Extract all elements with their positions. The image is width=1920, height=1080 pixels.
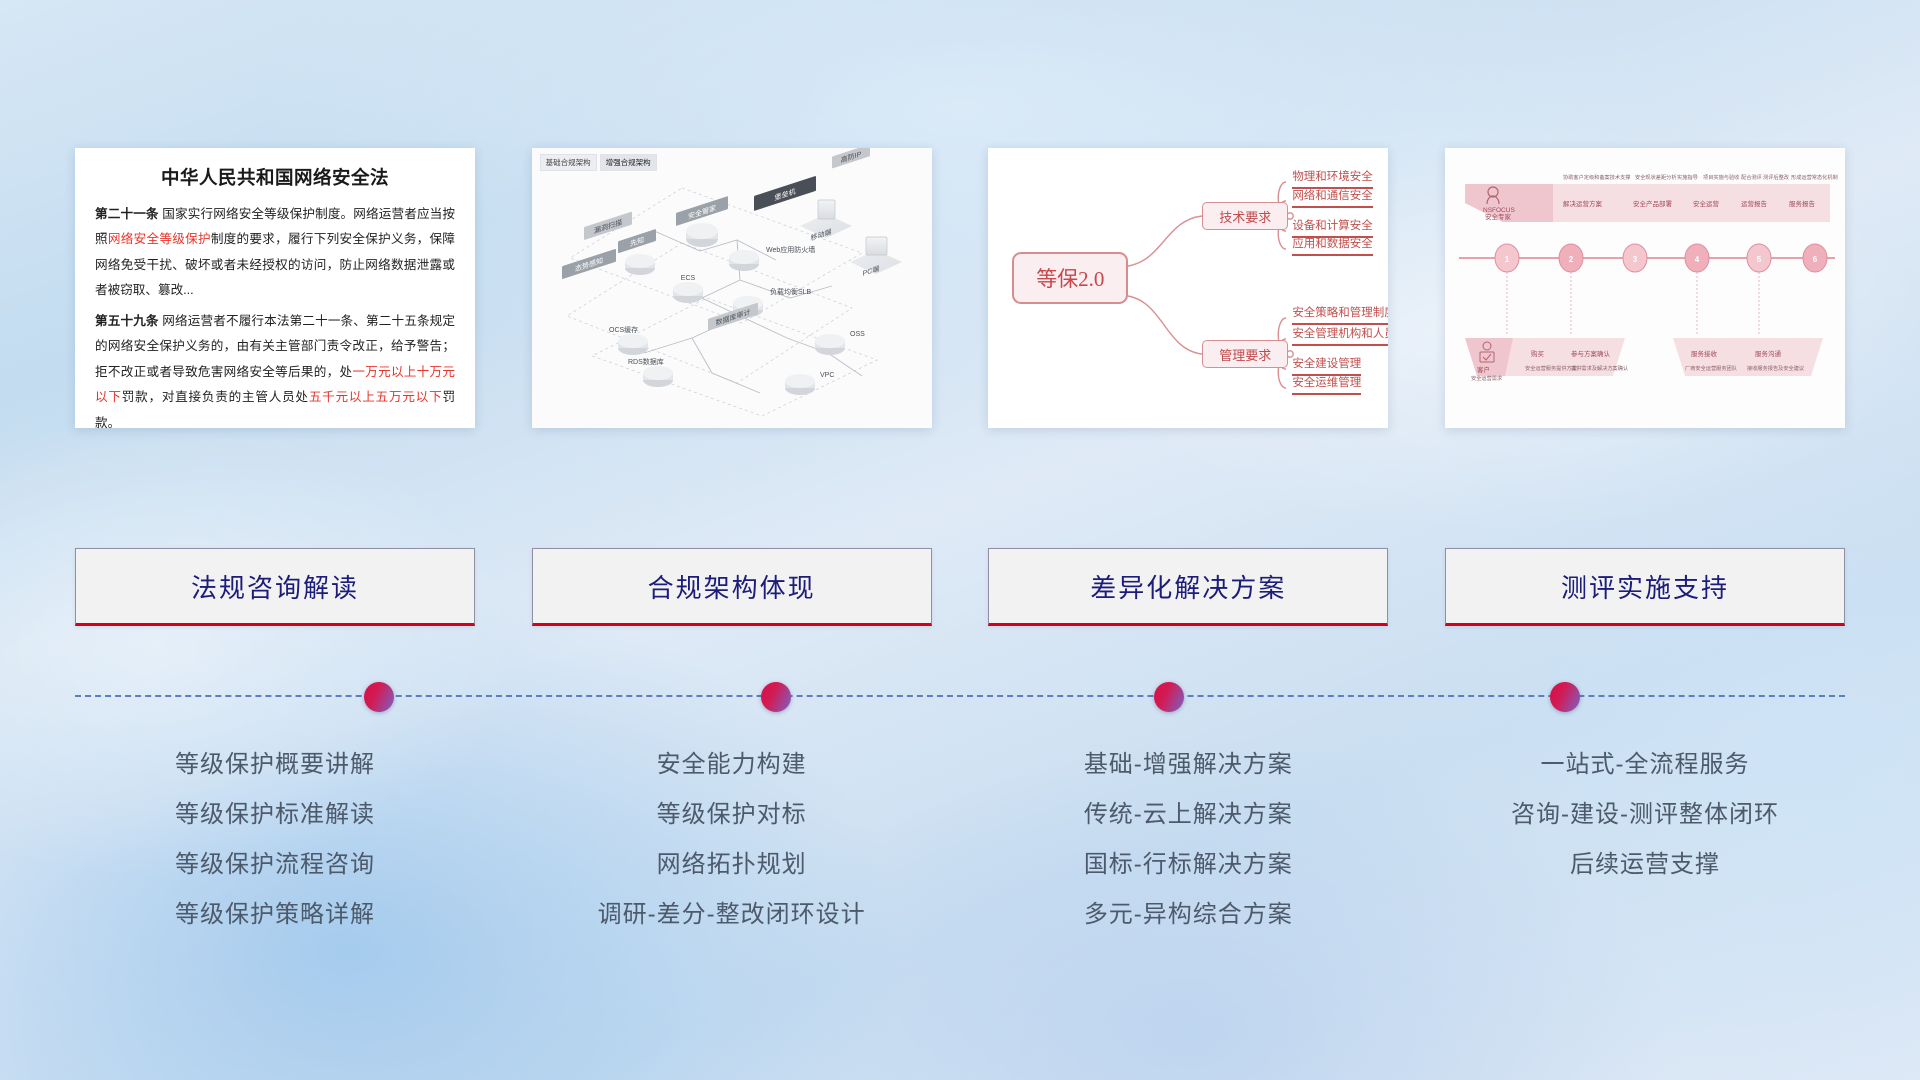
list-item[interactable]: 等级保护对标 (532, 790, 932, 840)
nsfocus-phase-1: 解决运营方案 (1563, 199, 1603, 208)
architecture-node-oss: OSS (850, 331, 865, 338)
nsfocus-step-2: 2 (1569, 255, 1574, 264)
nsfocus-top-label-4: 项目实施与验收 (1703, 173, 1739, 181)
mindmap-leaf-ops-mgmt: 安全运维管理 (1292, 376, 1361, 395)
architecture-node-ocs: OCS缓存 (609, 325, 638, 334)
thumbnail-architecture-diagram[interactable]: 基础合规架构 增强合规架构 (532, 148, 932, 428)
list-item[interactable]: 等级保护策略详解 (75, 890, 475, 940)
section-list-4: 一站式-全流程服务 咨询-建设-测评整体闭环 后续运营支撑 (1445, 740, 1845, 940)
timeline-dot-2[interactable] (761, 682, 791, 712)
nsfocus-client-label1: 客户 (1477, 365, 1490, 374)
list-item[interactable]: 后续运营支撑 (1445, 840, 1845, 890)
timeline-dashed-line (75, 695, 1845, 697)
section-headline-evaluation-support[interactable]: 测评实施支持 (1445, 548, 1845, 626)
section-headline-compliance-architecture[interactable]: 合规架构体现 (532, 548, 932, 626)
section-list-1: 等级保护概要讲解 等级保护标准解读 等级保护流程咨询 等级保护策略详解 (75, 740, 475, 940)
nsfocus-top-label-1: 协助客户定级和备案技术支撑 (1563, 173, 1630, 181)
nsfocus-phase-3: 安全运营 (1693, 199, 1720, 208)
law-article-59-text-b: 罚款，对直接负责的主管人员处 (122, 390, 309, 404)
nsfocus-brand-line2: 安全专家 (1485, 212, 1512, 221)
list-item[interactable]: 等级保护流程咨询 (75, 840, 475, 890)
architecture-node-ecs: ECS (680, 275, 695, 282)
list-item[interactable]: 基础-增强解决方案 (988, 740, 1388, 790)
nsfocus-client-label2: 安全运营需求 (1471, 374, 1503, 382)
law-article-59: 第五十九条 网络运营者不履行本法第二十一条、第二十五条规定的网络安全保护义务的，… (95, 309, 455, 428)
list-item[interactable]: 安全能力构建 (532, 740, 932, 790)
mindmap-branch-management[interactable]: 管理要求 (1202, 340, 1288, 368)
section-headline-differentiated-solution[interactable]: 差异化解决方案 (988, 548, 1388, 626)
nsfocus-phase-5: 服务报告 (1789, 199, 1816, 208)
law-article-59-label: 第五十九条 (95, 314, 159, 328)
nsfocus-canvas: NSFOCUS 安全专家 协助客户定级和备案技术支撑 安全现状差距分析 实施指导… (1445, 148, 1845, 428)
nsfocus-step-6: 6 (1813, 255, 1818, 264)
list-item[interactable]: 调研-差分-整改闭环设计 (532, 890, 932, 940)
list-item[interactable]: 传统-云上解决方案 (988, 790, 1388, 840)
nsfocus-bottom-right-1: 服务接收 (1691, 349, 1718, 358)
law-article-21: 第二十一条 国家实行网络安全等级保护制度。网络运营者应当按照网络安全等级保护制度… (95, 202, 455, 304)
architecture-node-rds: RDS数据库 (628, 357, 664, 366)
mindmap-root-node[interactable]: 等保2.0 (1012, 252, 1128, 304)
section-title-2: 合规架构体现 (648, 568, 816, 605)
mindmap-leaf-network-comm: 网络和通信安全 (1292, 189, 1373, 208)
nsfocus-bottom-left-2: 参与方案确认 (1571, 349, 1611, 358)
thumbnail-mindmap[interactable]: 等保2.0 技术要求 物理和环境安全 网络和通信安全 设备和计算安全 应用和数据… (988, 148, 1388, 428)
nsfocus-bottom-right-2: 服务沟通 (1755, 349, 1782, 358)
mindmap-leaf-construction-mgmt: 安全建设管理 (1292, 357, 1361, 376)
list-item[interactable]: 国标-行标解决方案 (988, 840, 1388, 890)
thumbnail-row: 中华人民共和国网络安全法 第二十一条 国家实行网络安全等级保护制度。网络运营者应… (0, 0, 1920, 428)
list-item[interactable]: 多元-异构综合方案 (988, 890, 1388, 940)
nsfocus-bottom-left-sub-1: 安全运营服务提供方案 (1525, 364, 1578, 372)
list-item[interactable]: 等级保护概要讲解 (75, 740, 475, 790)
nsfocus-phase-4: 运营报告 (1741, 199, 1768, 208)
nsfocus-top-label-6: 测评后整改 (1763, 173, 1790, 181)
list-item[interactable]: 等级保护标准解读 (75, 790, 475, 840)
section-list-2: 安全能力构建 等级保护对标 网络拓扑规划 调研-差分-整改闭环设计 (532, 740, 932, 940)
architecture-node-shujukushenji: 数据库审计 (715, 307, 750, 327)
timeline-dot-4[interactable] (1550, 682, 1580, 712)
architecture-node-vpc: VPC (820, 372, 834, 379)
law-article-21-highlight: 网络安全等级保护 (108, 232, 211, 246)
mindmap-leaf-policy-system: 安全策略和管理制度 (1292, 306, 1388, 325)
mindmap-leaf-device-compute: 设备和计算安全 (1292, 219, 1373, 238)
architecture-node-waf: Web应用防火墙 (766, 245, 815, 254)
architecture-svg: 堡垒机 安全管家 (532, 148, 932, 428)
list-item[interactable]: 网络拓扑规划 (532, 840, 932, 890)
timeline-dot-1[interactable] (364, 682, 394, 712)
nsfocus-step-4: 4 (1695, 255, 1700, 264)
nsfocus-step-3: 3 (1633, 255, 1638, 264)
nsfocus-svg: NSFOCUS 安全专家 协助客户定级和备案技术支撑 安全现状差距分析 实施指导… (1445, 148, 1845, 428)
mindmap-leaf-physical-env: 物理和环境安全 (1292, 170, 1373, 189)
thumbnail-nsfocus-timeline[interactable]: NSFOCUS 安全专家 协助客户定级和备案技术支撑 安全现状差距分析 实施指导… (1445, 148, 1845, 428)
nsfocus-bottom-left-1: 购买 (1531, 349, 1545, 358)
mindmap-branch-technical[interactable]: 技术要求 (1202, 202, 1288, 230)
nsfocus-brand-line1: NSFOCUS (1483, 207, 1515, 214)
nsfocus-step-1: 1 (1505, 255, 1510, 264)
list-item[interactable]: 咨询-建设-测评整体闭环 (1445, 790, 1845, 840)
mindmap-leaf-app-data: 应用和数据安全 (1292, 237, 1373, 256)
section-list-3: 基础-增强解决方案 传统-云上解决方案 国标-行标解决方案 多元-异构综合方案 (988, 740, 1388, 940)
section-list-row: 等级保护概要讲解 等级保护标准解读 等级保护流程咨询 等级保护策略详解 安全能力… (0, 740, 1920, 940)
nsfocus-top-label-3: 实施指导 (1677, 173, 1698, 181)
architecture-node-slb: 负载均衡SLB (770, 287, 812, 296)
nsfocus-bottom-left-sub-2: 提供需求及解决方案确认 (1571, 364, 1629, 372)
law-article-59-highlight-b: 五千元以上五万元以下 (309, 390, 443, 404)
nsfocus-step-5: 5 (1757, 255, 1762, 264)
architecture-canvas: 基础合规架构 增强合规架构 (532, 148, 932, 428)
nsfocus-bottom-right-sub-2: 接收服务报告及安全建议 (1747, 364, 1805, 372)
nsfocus-top-label-2: 安全现状差距分析 (1635, 173, 1677, 181)
timeline-dot-3[interactable] (1154, 682, 1184, 712)
law-article-21-label: 第二十一条 (95, 207, 159, 221)
nsfocus-bottom-right-sub-1: 厂商安全运营服务团队 (1685, 364, 1738, 372)
law-card-body: 中华人民共和国网络安全法 第二十一条 国家实行网络安全等级保护制度。网络运营者应… (75, 148, 475, 428)
section-title-4: 测评实施支持 (1561, 568, 1729, 605)
section-headline-regulation-consulting[interactable]: 法规咨询解读 (75, 548, 475, 626)
law-title: 中华人民共和国网络安全法 (95, 164, 455, 190)
thumbnail-law-text[interactable]: 中华人民共和国网络安全法 第二十一条 国家实行网络安全等级保护制度。网络运营者应… (75, 148, 475, 428)
mindmap-canvas: 等保2.0 技术要求 物理和环境安全 网络和通信安全 设备和计算安全 应用和数据… (988, 148, 1388, 428)
nsfocus-phase-2: 安全产品部署 (1633, 199, 1673, 208)
list-item[interactable]: 一站式-全流程服务 (1445, 740, 1845, 790)
section-headline-row: 法规咨询解读 合规架构体现 差异化解决方案 测评实施支持 (0, 548, 1920, 626)
section-title-1: 法规咨询解读 (191, 568, 359, 605)
nsfocus-top-label-7: 形成运营常态化机制 (1791, 173, 1838, 181)
nsfocus-top-label-5: 配合测评 (1741, 173, 1762, 181)
section-title-3: 差异化解决方案 (1090, 568, 1286, 605)
mindmap-leaf-org-personnel: 安全管理机构和人员 (1292, 327, 1388, 346)
